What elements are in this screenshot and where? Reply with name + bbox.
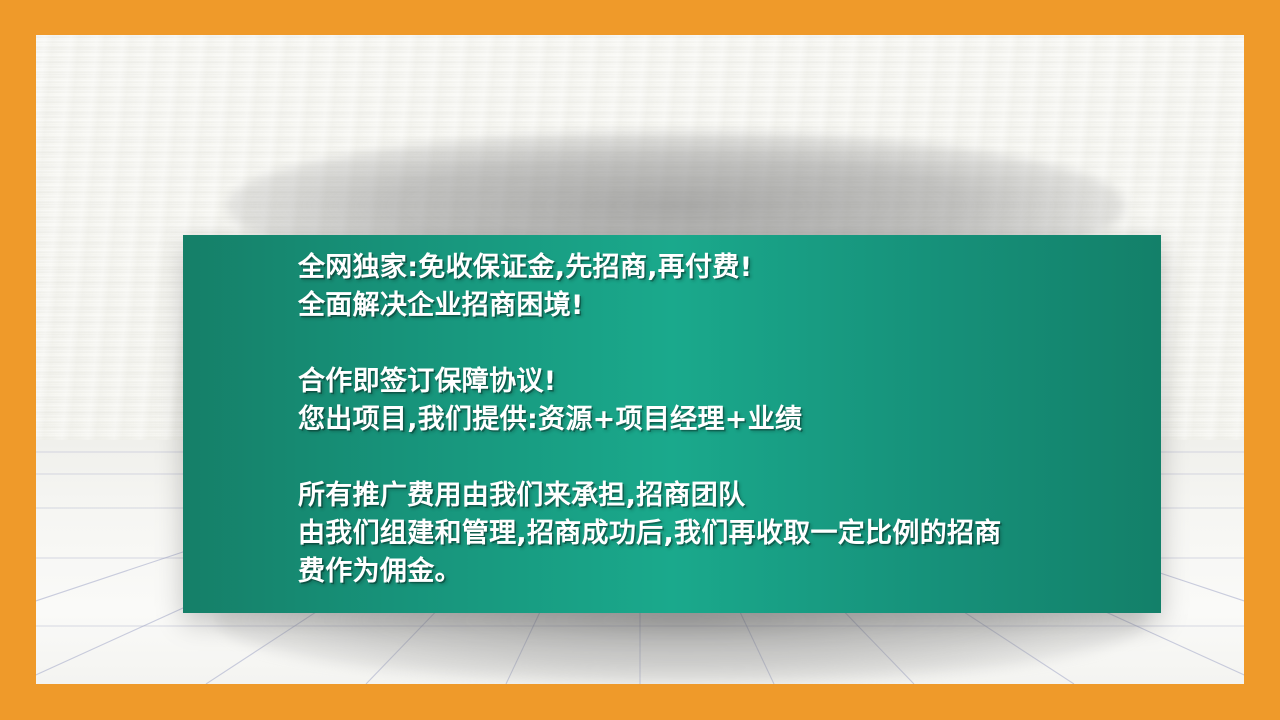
slide-canvas: 全网独家:免收保证金,先招商,再付费! 全面解决企业招商困境! 合作即签订保障协… xyxy=(0,0,1280,720)
promo-line-7: 费作为佣金。 xyxy=(298,553,1147,591)
promo-line-spacer-1 xyxy=(298,325,1147,363)
promo-line-3: 合作即签订保障协议! xyxy=(298,363,1147,401)
promo-text-block: 全网独家:免收保证金,先招商,再付费! 全面解决企业招商困境! 合作即签订保障协… xyxy=(298,249,1147,591)
promo-line-1: 全网独家:免收保证金,先招商,再付费! xyxy=(298,249,1147,287)
promo-line-5: 所有推广费用由我们来承担,招商团队 xyxy=(298,477,1147,515)
room-scene: 全网独家:免收保证金,先招商,再付费! 全面解决企业招商困境! 合作即签订保障协… xyxy=(36,35,1244,684)
promo-line-2: 全面解决企业招商困境! xyxy=(298,287,1147,325)
promo-text-panel: 全网独家:免收保证金,先招商,再付费! 全面解决企业招商困境! 合作即签订保障协… xyxy=(183,235,1161,613)
promo-line-4: 您出项目,我们提供:资源+项目经理+业绩 xyxy=(298,401,1147,439)
promo-line-6: 由我们组建和管理,招商成功后,我们再收取一定比例的招商 xyxy=(298,515,1147,553)
promo-line-spacer-2 xyxy=(298,439,1147,477)
